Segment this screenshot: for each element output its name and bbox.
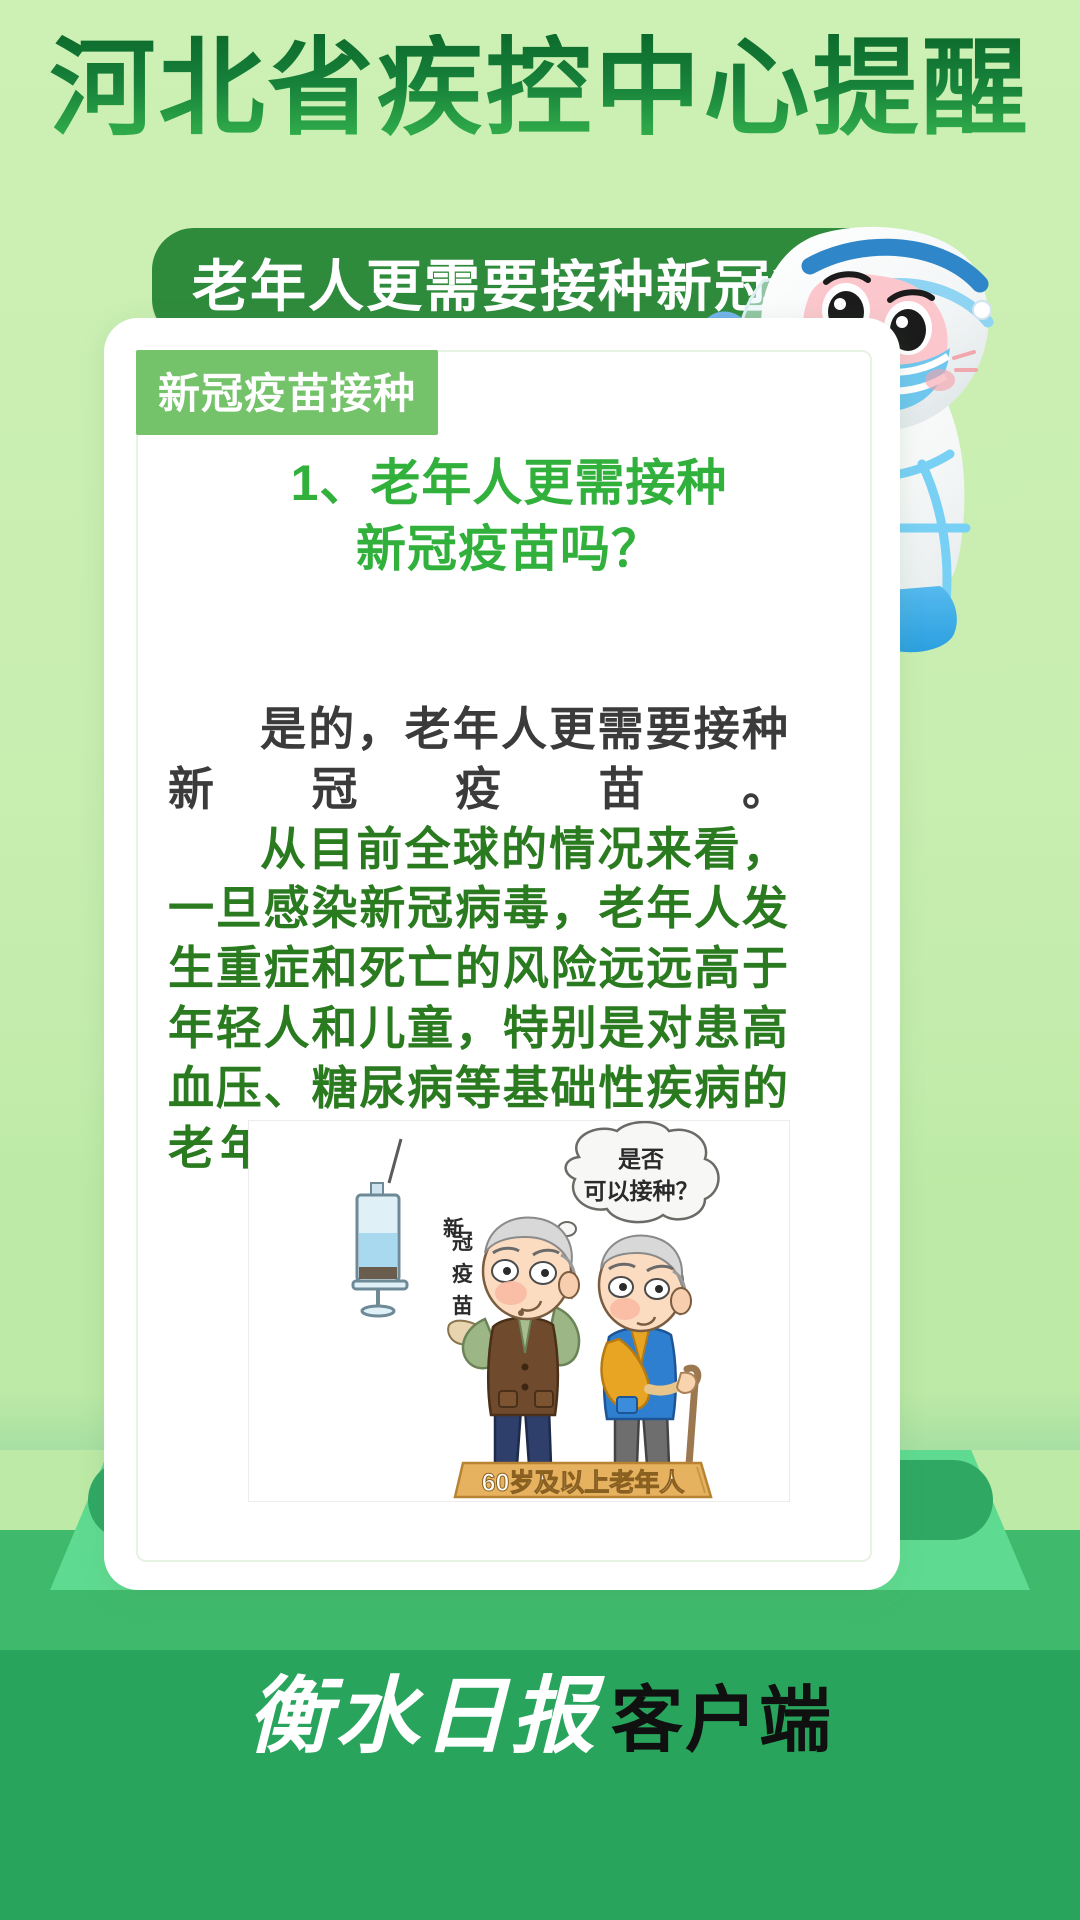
thought-line-1: 是否 bbox=[618, 1146, 664, 1172]
question-heading: 1、老年人更需接种 新冠疫苗吗？ bbox=[150, 450, 850, 582]
platform-label: 60岁及以上老年人 bbox=[482, 1468, 685, 1497]
footer-brand: 衡水日报 bbox=[247, 1671, 599, 1764]
svg-text:冠: 冠 bbox=[452, 1231, 473, 1254]
question-line-1: 1、老年人更需接种 bbox=[150, 450, 850, 516]
svg-text:疫: 疫 bbox=[452, 1262, 473, 1286]
section-tag: 新冠疫苗接种 bbox=[136, 350, 438, 435]
poster-root: 河北省疾控中心提醒 老年人更需要接种新冠疫苗 bbox=[0, 0, 1080, 1920]
page-title: 河北省疾控中心提醒 bbox=[0, 34, 1080, 145]
footer-logo: 衡水日报客户端 bbox=[0, 1649, 1080, 1770]
svg-text:苗: 苗 bbox=[452, 1294, 473, 1318]
body-paragraph-1: 是的，老年人更需要接种新冠疫苗。 bbox=[168, 700, 788, 820]
thought-line-2: 可以接种？ bbox=[584, 1178, 699, 1204]
body-text: 是的，老年人更需要接种新冠疫苗。 从目前全球的情况来看，一旦感染新冠病毒，老年人… bbox=[168, 700, 788, 1178]
question-line-2: 新冠疫苗吗？ bbox=[150, 516, 850, 582]
illustration-elderly-vaccination: 新 冠 疫 苗 是否 可以接种？ bbox=[248, 1120, 790, 1502]
footer-app: 客户端 bbox=[611, 1681, 833, 1761]
illustration-platform: 60岁及以上老年人 bbox=[455, 1463, 711, 1497]
